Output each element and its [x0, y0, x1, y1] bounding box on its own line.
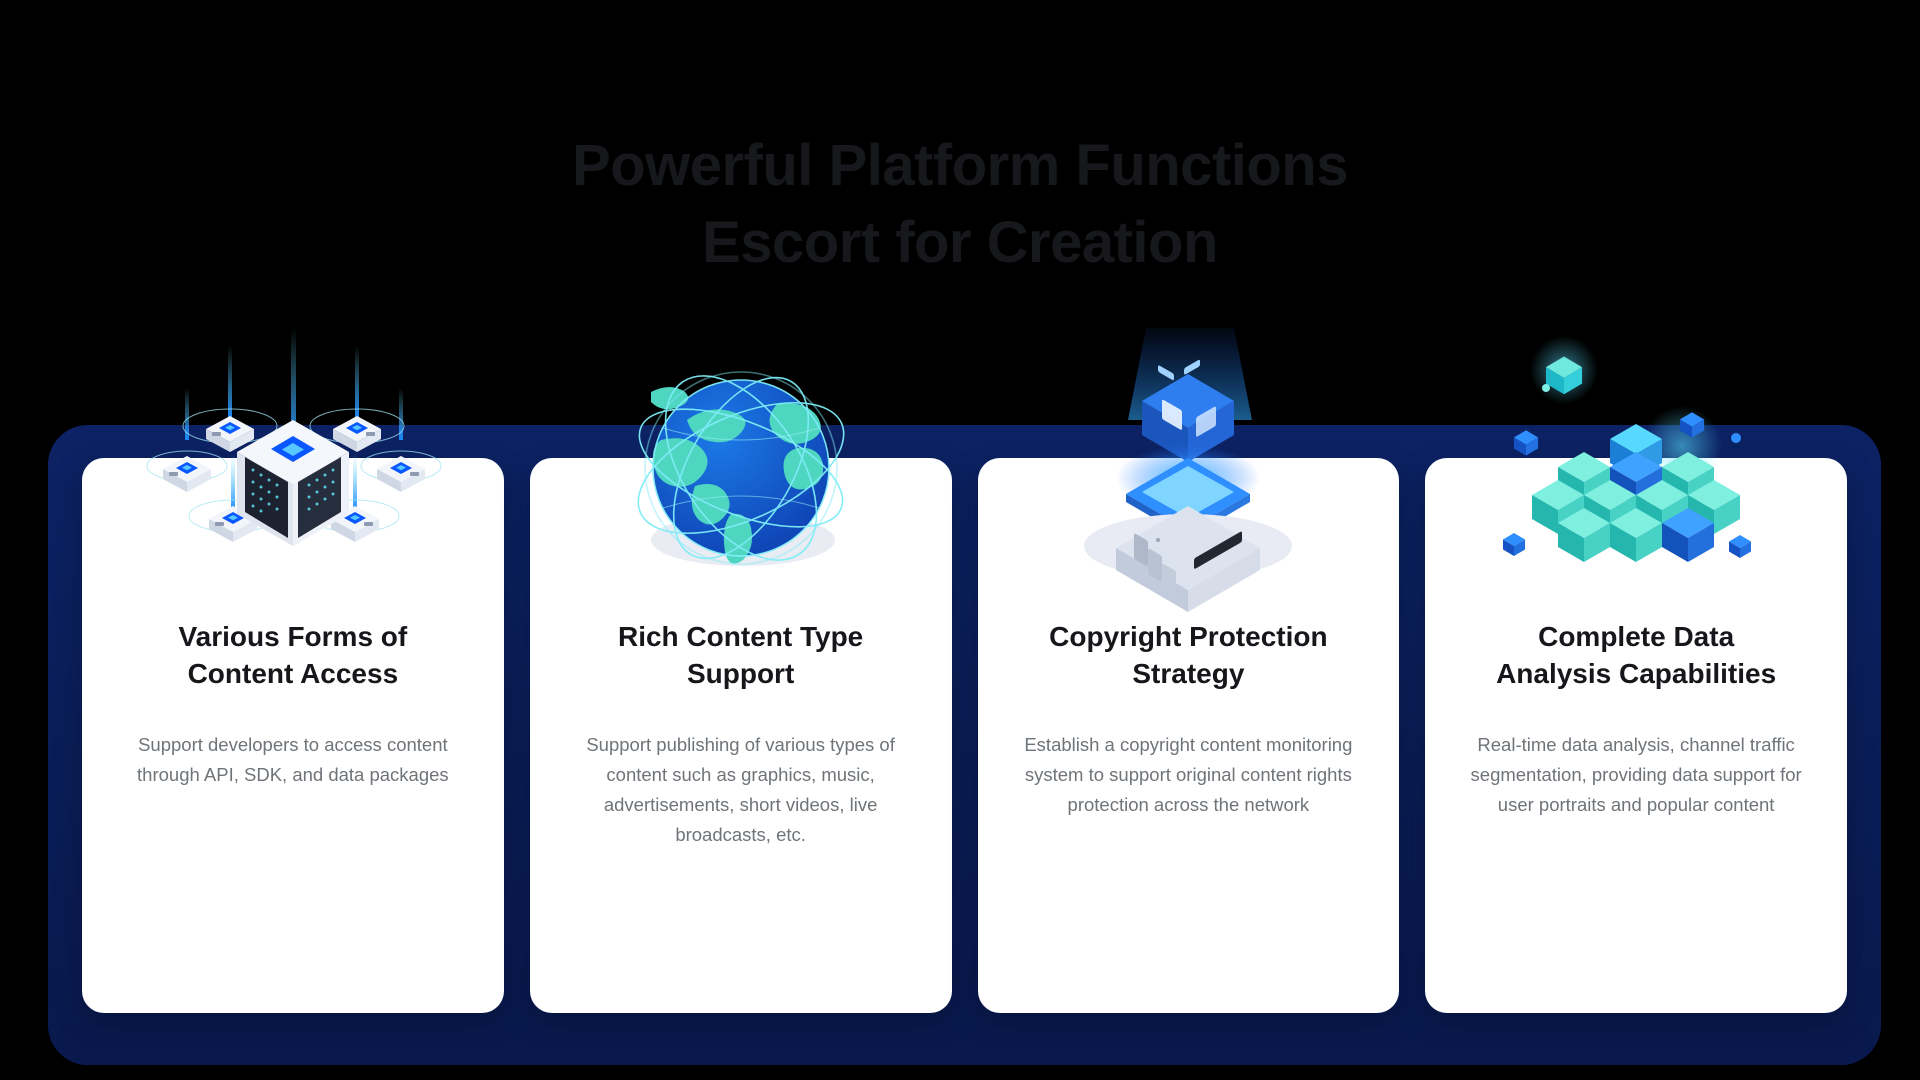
network-nodes-server-icon — [143, 328, 443, 593]
page-title: Powerful Platform Functions Escort for C… — [0, 128, 1920, 281]
data-cubes-analysis-icon — [1486, 328, 1786, 593]
feature-card-list: Various Forms of Content Access Support … — [82, 458, 1847, 1013]
page-root: Powerful Platform Functions Escort for C… — [0, 0, 1920, 1080]
copyright-scanner-device-icon — [1038, 328, 1338, 593]
card-description: Real-time data analysis, channel traffic… — [1463, 730, 1809, 820]
card-description: Establish a copyright content monitoring… — [1015, 730, 1361, 820]
card-title: Complete Data Analysis Capabilities — [1459, 618, 1813, 692]
card-description: Support publishing of various types of c… — [568, 730, 914, 850]
feature-card-content-access[interactable]: Various Forms of Content Access Support … — [82, 458, 504, 1013]
globe-network-icon — [591, 328, 891, 593]
feature-card-copyright[interactable]: Copyright Protection Strategy Establish … — [978, 458, 1400, 1013]
card-description: Support developers to access content thr… — [120, 730, 466, 790]
card-title: Rich Content Type Support — [563, 618, 917, 692]
card-title: Various Forms of Content Access — [116, 618, 470, 692]
card-title: Copyright Protection Strategy — [1011, 618, 1365, 692]
feature-card-content-type[interactable]: Rich Content Type Support Support publis… — [530, 458, 952, 1013]
feature-card-data-analysis[interactable]: Complete Data Analysis Capabilities Real… — [1425, 458, 1847, 1013]
